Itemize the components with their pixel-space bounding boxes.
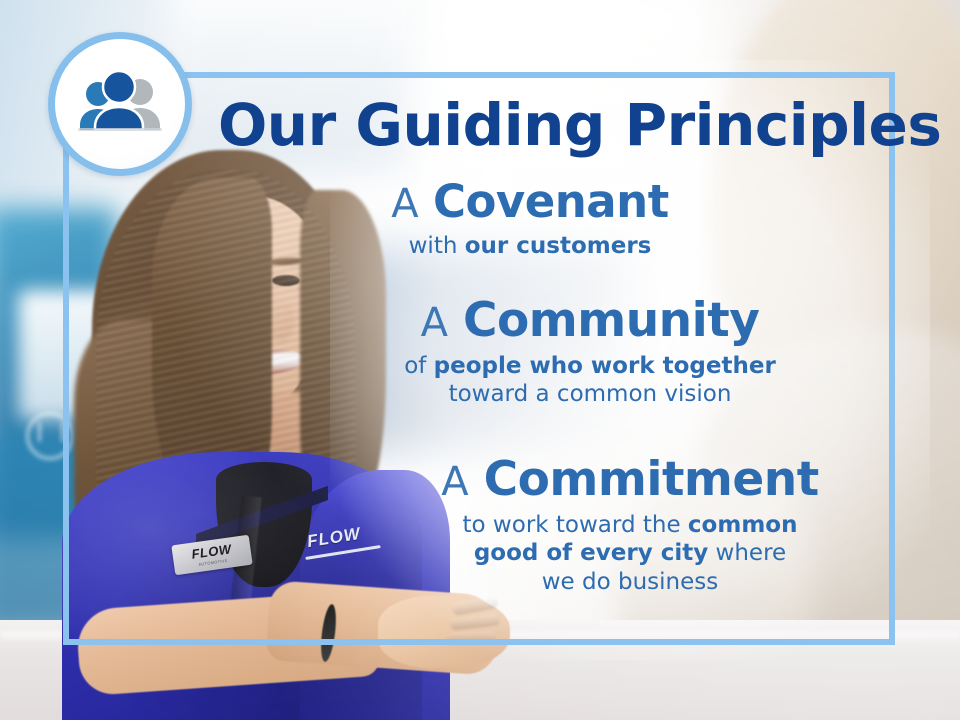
principle-heading: A Commitment xyxy=(380,455,880,505)
principle-community: A Community of people who work togethert… xyxy=(332,296,848,409)
subtext-emphasis: common xyxy=(688,512,798,538)
dealer-logo-blur xyxy=(26,412,74,460)
subtext-run: to work toward the xyxy=(463,512,688,538)
subtext-line: of people who work together xyxy=(332,352,848,381)
principle-commitment: A Commitment to work toward the commongo… xyxy=(380,455,880,596)
subtext-run: with xyxy=(409,233,465,259)
principle-heading: A Covenant xyxy=(300,178,760,226)
subtext-line: good of every city where xyxy=(380,539,880,568)
principle-word: Commitment xyxy=(484,452,819,507)
group-of-people-icon xyxy=(72,68,168,140)
subtext-line: we do business xyxy=(380,568,880,597)
subtext-emphasis: good of every city xyxy=(474,540,708,566)
principle-subtext: to work toward the commongood of every c… xyxy=(380,511,880,597)
principle-article: A xyxy=(391,181,418,227)
principle-word: Covenant xyxy=(433,175,669,228)
principle-subtext: of people who work togethertoward a comm… xyxy=(332,352,848,409)
principle-article: A xyxy=(421,300,448,346)
subtext-run: of xyxy=(404,353,433,379)
principle-article: A xyxy=(441,459,468,505)
principle-covenant: A Covenant with our customers xyxy=(300,178,760,260)
subtext-line: to work toward the common xyxy=(380,511,880,540)
page-title: Our Guiding Principles xyxy=(218,96,878,154)
subtext-run: toward a common vision xyxy=(449,381,732,407)
subtext-line: with our customers xyxy=(300,232,760,261)
principle-word: Community xyxy=(463,293,759,348)
principle-heading: A Community xyxy=(332,296,848,346)
subtext-run: we do business xyxy=(542,569,719,595)
subtext-emphasis: our customers xyxy=(465,233,652,259)
guiding-principles-graphic: FLOW AUTOMOTIVE FLOW xyxy=(0,0,960,720)
principle-subtext: with our customers xyxy=(300,232,760,261)
subtext-line: toward a common vision xyxy=(332,380,848,409)
subtext-emphasis: people who work together xyxy=(434,353,776,379)
employee-finger xyxy=(446,631,496,645)
group-of-people-badge xyxy=(48,32,192,176)
subtext-run: where xyxy=(708,540,786,566)
